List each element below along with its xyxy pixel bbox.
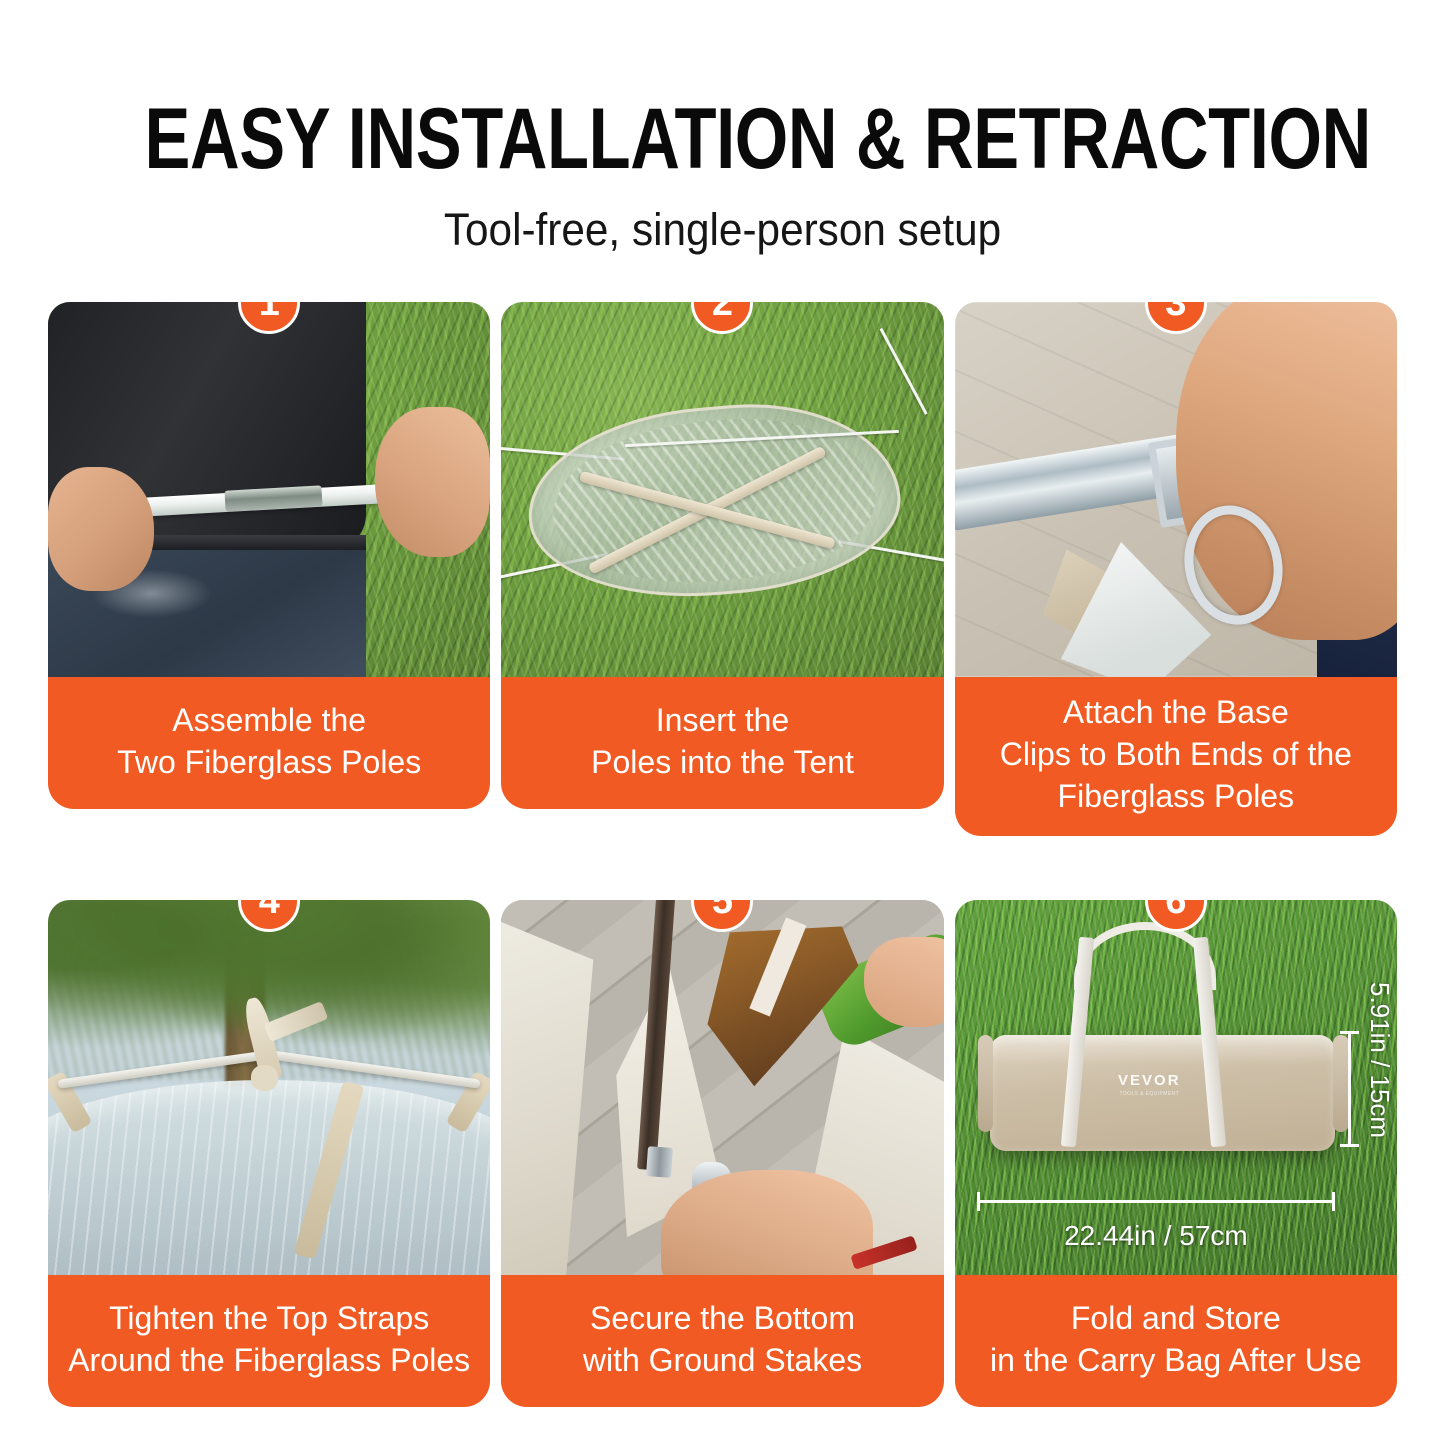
step-card-4[interactable]: 4 Tighten the Top Straps Around the Fibe…: [48, 900, 490, 1407]
pole-ferrule: [646, 1146, 673, 1178]
step-caption-4: Tighten the Top Straps Around the Fiberg…: [48, 1275, 490, 1407]
scene-insert-poles: [501, 302, 943, 677]
step-card-6[interactable]: VEVOR TOOLS & EQUIPMENT 22.44in / 57cm 5…: [955, 900, 1397, 1407]
step-photo-1: 1: [48, 302, 490, 677]
infographic-page: EASY INSTALLATION & RETRACTION Tool-free…: [0, 0, 1445, 1445]
brand-name: VEVOR: [1118, 1072, 1181, 1089]
dimension-line-vertical: [1348, 1031, 1351, 1147]
caption-line: Insert the: [656, 699, 789, 741]
bag-endcap-right: [1333, 1035, 1348, 1133]
left-hand: [48, 467, 154, 591]
header: EASY INSTALLATION & RETRACTION Tool-free…: [0, 0, 1445, 256]
step-photo-5: 5: [501, 900, 943, 1275]
caption-line: Two Fiberglass Poles: [117, 741, 421, 783]
page-title: EASY INSTALLATION & RETRACTION: [145, 96, 1301, 182]
caption-line: Attach the Base: [1063, 691, 1289, 733]
right-hand: [375, 407, 490, 557]
dimension-label-width: 22.44in / 57cm: [977, 1220, 1335, 1252]
step-caption-3: Attach the Base Clips to Both Ends of th…: [955, 677, 1397, 836]
scene-attach-base-clips: [955, 302, 1397, 677]
dimension-label-height: 5.91in / 15cm: [1364, 982, 1395, 1138]
strap-knot: [251, 1065, 278, 1091]
step-card-3[interactable]: 3 Attach the Base Clips to Both Ends of …: [955, 302, 1397, 836]
step-photo-2: 2: [501, 302, 943, 677]
page-subtitle: Tool-free, single-person setup: [43, 204, 1401, 256]
step-photo-6: VEVOR TOOLS & EQUIPMENT 22.44in / 57cm 5…: [955, 900, 1397, 1275]
dimension-line-horizontal: [977, 1200, 1335, 1203]
step-caption-2: Insert the Poles into the Tent: [501, 677, 943, 809]
brand-tagline: TOOLS & EQUIPMENT: [1105, 1091, 1193, 1097]
caption-line: Clips to Both Ends of the: [1000, 733, 1352, 775]
step-caption-5: Secure the Bottom with Ground Stakes: [501, 1275, 943, 1407]
scene-assemble-poles: [48, 302, 490, 677]
caption-line: Around the Fiberglass Poles: [68, 1339, 470, 1381]
caption-line: Secure the Bottom: [590, 1297, 855, 1339]
caption-line: Tighten the Top Straps: [109, 1297, 429, 1339]
caption-line: Fiberglass Poles: [1058, 775, 1295, 817]
bag-endcap-left: [978, 1035, 993, 1133]
caption-line: with Ground Stakes: [583, 1339, 862, 1381]
caption-line: in the Carry Bag After Use: [990, 1339, 1362, 1381]
scene-secure-ground-stakes: [501, 900, 943, 1275]
step-caption-6: Fold and Store in the Carry Bag After Us…: [955, 1275, 1397, 1407]
scene-fold-and-store: VEVOR TOOLS & EQUIPMENT 22.44in / 57cm 5…: [955, 900, 1397, 1275]
step-card-2[interactable]: 2 Insert the Poles into the Tent: [501, 302, 943, 836]
step-photo-3: 3: [955, 302, 1397, 677]
step-card-5[interactable]: 5 Secure the Bottom with Ground Stakes: [501, 900, 943, 1407]
steps-grid: 1 Assemble the Two Fiberglass Poles: [48, 302, 1397, 1407]
step-caption-1: Assemble the Two Fiberglass Poles: [48, 677, 490, 809]
pole-diagonal-b: [579, 471, 836, 550]
caption-line: Poles into the Tent: [591, 741, 854, 783]
tent-canopy: [48, 1080, 490, 1275]
caption-line: Assemble the: [172, 699, 366, 741]
bag-brand-logo: VEVOR TOOLS & EQUIPMENT: [1105, 1072, 1193, 1097]
caption-line: Fold and Store: [1071, 1297, 1281, 1339]
scene-tighten-top-straps: [48, 900, 490, 1275]
step-photo-4: 4: [48, 900, 490, 1275]
step-card-1[interactable]: 1 Assemble the Two Fiberglass Poles: [48, 302, 490, 836]
